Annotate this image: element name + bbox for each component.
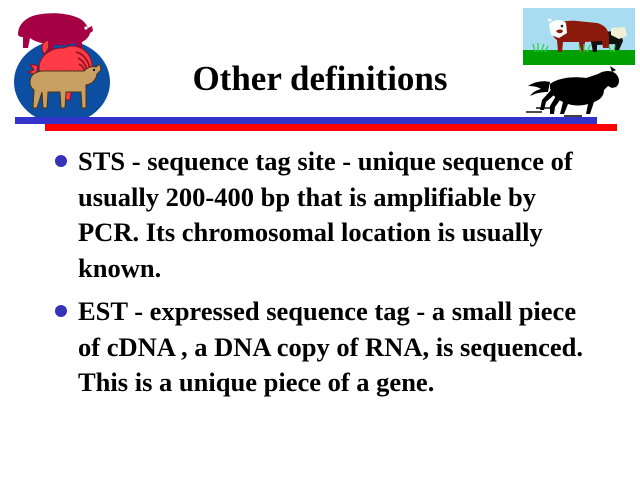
filled-circle-bullet-icon [55, 305, 67, 317]
slide-canvas: Other definitions STS - sequence tag sit… [0, 0, 640, 480]
galloping-horse-silhouette [520, 66, 632, 120]
divider-bar-blue [15, 117, 597, 124]
list-item-text: EST - expressed sequence tag - a small p… [78, 294, 592, 401]
cow-eye [93, 69, 95, 71]
farm-animals-logo [4, 4, 120, 124]
filled-circle-bullet-icon [55, 155, 67, 167]
list-item: STS - sequence tag site - unique sequenc… [52, 144, 592, 286]
list-item: EST - expressed sequence tag - a small p… [52, 294, 592, 401]
horse-body [550, 71, 619, 114]
photo-grass [523, 50, 635, 65]
divider-bar-red [45, 124, 617, 131]
list-item-text: STS - sequence tag site - unique sequenc… [78, 144, 592, 286]
cattle-pasture-photo [523, 8, 635, 65]
horse-ear [610, 66, 616, 72]
page-title: Other definitions [120, 58, 520, 100]
horse-hind-leg-b [550, 96, 560, 114]
horse-tail [528, 81, 550, 96]
bullet-list: STS - sequence tag site - unique sequenc… [52, 144, 592, 409]
